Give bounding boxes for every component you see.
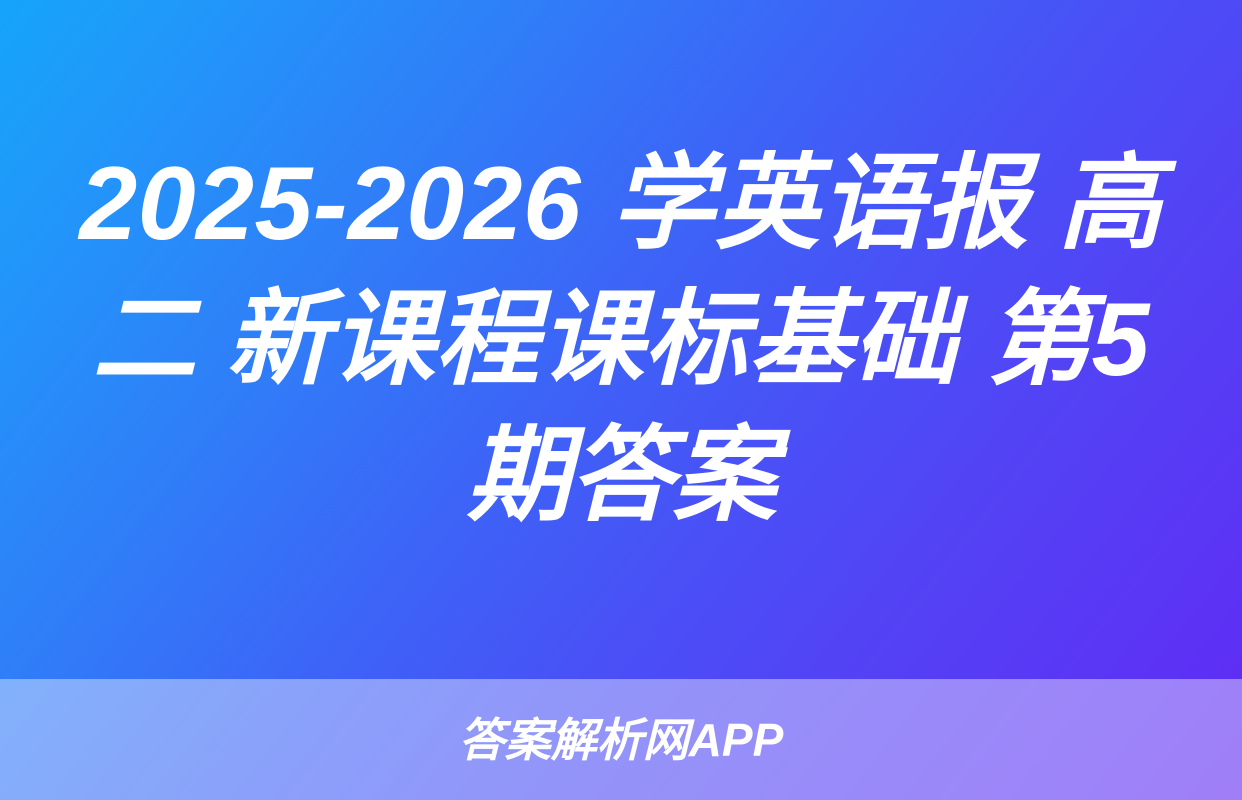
- banner-title-line-1: 2025-2026 学英语报 高: [56, 136, 1186, 272]
- banner-title-block: 2025-2026 学英语报 高 二 新课程课标基础 第5 期答案: [0, 0, 1242, 679]
- banner-title-line-3: 期答案: [56, 408, 1186, 544]
- banner-footer-band: 答案解析网APP: [0, 679, 1242, 800]
- answer-key-banner: 2025-2026 学英语报 高 二 新课程课标基础 第5 期答案 答案解析网A…: [0, 0, 1242, 800]
- app-brand-label: 答案解析网APP: [459, 717, 784, 763]
- banner-title-line-2: 二 新课程课标基础 第5: [56, 272, 1186, 408]
